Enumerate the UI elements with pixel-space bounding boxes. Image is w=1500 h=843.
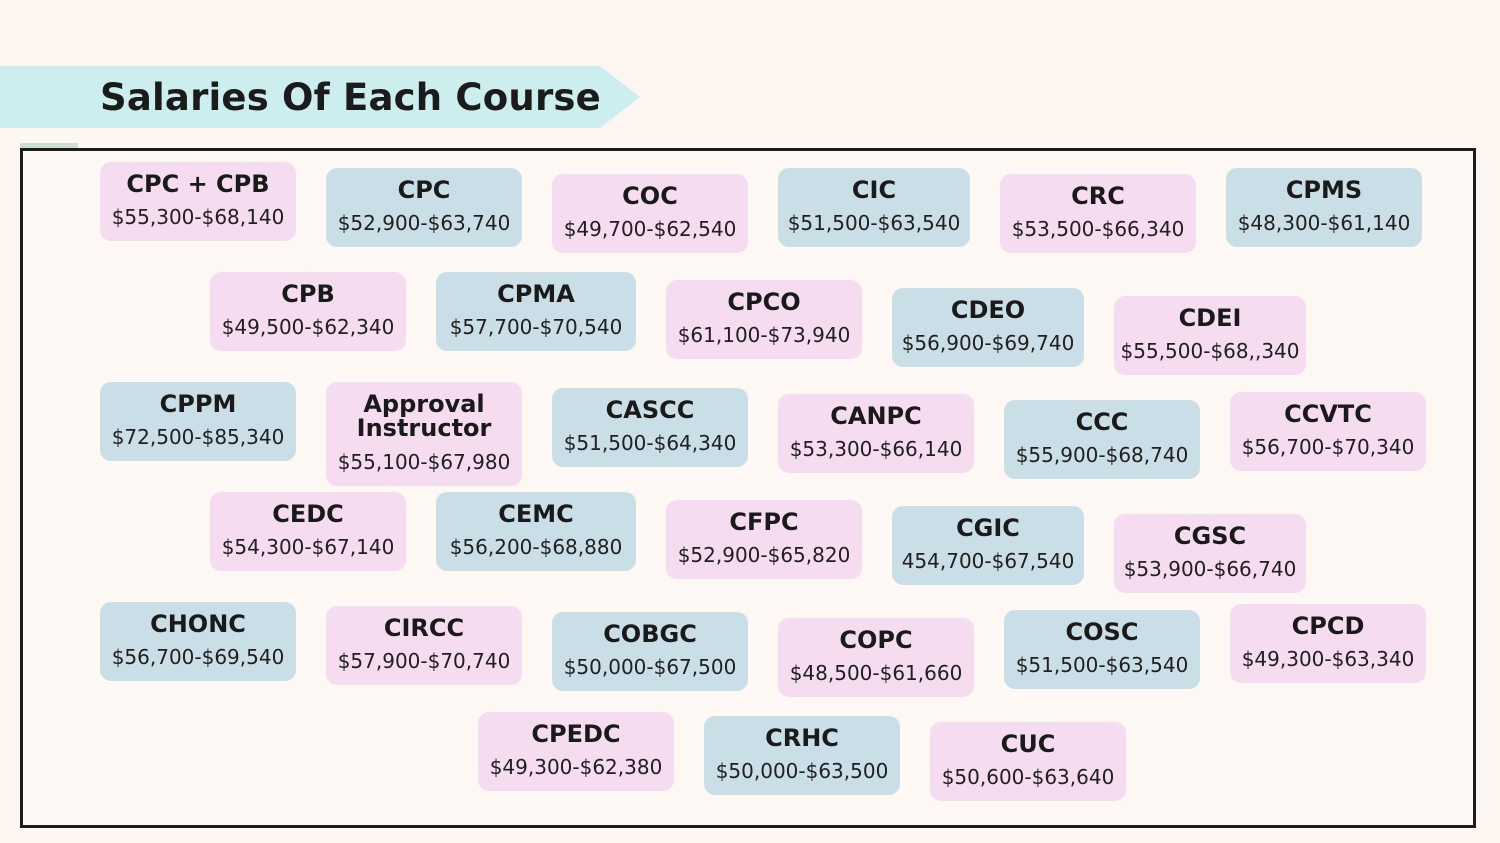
course-card-salary-range: $49,500-$62,340 (222, 315, 395, 339)
course-card[interactable]: CPMA$57,700-$70,540 (436, 272, 636, 351)
course-card[interactable]: CPMS$48,300-$61,140 (1226, 168, 1422, 247)
course-row: CPB$49,500-$62,340CPMA$57,700-$70,540CPC… (100, 272, 1466, 382)
course-card-salary-range: $57,700-$70,540 (450, 315, 623, 339)
course-card[interactable]: CPEDC$49,300-$62,380 (478, 712, 674, 791)
course-card-salary-range: $50,000-$63,500 (716, 759, 889, 783)
course-card[interactable]: COPC$48,500-$61,660 (778, 618, 974, 697)
infographic-stage: Salaries Of Each Course CPC + CPB$55,300… (0, 0, 1500, 843)
course-card-title: CPC + CPB (126, 172, 269, 196)
course-card-title: COBGC (603, 622, 697, 646)
course-card-title: CPMS (1286, 178, 1362, 202)
course-card[interactable]: CANPC$53,300-$66,140 (778, 394, 974, 473)
course-card[interactable]: CPCD$49,300-$63,340 (1230, 604, 1426, 683)
course-card[interactable]: CPCO$61,100-$73,940 (666, 280, 862, 359)
course-card-salary-range: $56,200-$68,880 (450, 535, 623, 559)
course-card[interactable]: CHONC$56,700-$69,540 (100, 602, 296, 681)
course-card-salary-range: $53,300-$66,140 (790, 437, 963, 461)
course-card-grid: CPC + CPB$55,300-$68,140CPC$52,900-$63,7… (78, 148, 1476, 828)
course-card-title: CDEI (1179, 306, 1242, 330)
course-card[interactable]: Approval Instructor$55,100-$67,980 (326, 382, 522, 486)
course-card[interactable]: CEMC$56,200-$68,880 (436, 492, 636, 571)
course-card-salary-range: $49,700-$62,540 (564, 217, 737, 241)
course-card-title: COSC (1066, 620, 1139, 644)
course-card-title: CANPC (830, 404, 921, 428)
course-card-salary-range: $52,900-$63,740 (338, 211, 511, 235)
course-card-salary-range: $56,900-$69,740 (902, 331, 1075, 355)
course-card[interactable]: CEDC$54,300-$67,140 (210, 492, 406, 571)
course-card-salary-range: $48,500-$61,660 (790, 661, 963, 685)
course-card[interactable]: CGSC$53,900-$66,740 (1114, 514, 1306, 593)
course-card[interactable]: CRC$53,500-$66,340 (1000, 174, 1196, 253)
page-title: Salaries Of Each Course (100, 76, 601, 119)
course-row: CPC + CPB$55,300-$68,140CPC$52,900-$63,7… (100, 162, 1466, 272)
course-card-salary-range: $56,700-$69,540 (112, 645, 285, 669)
course-card-salary-range: $61,100-$73,940 (678, 323, 851, 347)
course-row: CPPM$72,500-$85,340Approval Instructor$5… (100, 382, 1466, 492)
course-card-salary-range: $72,500-$85,340 (112, 425, 285, 449)
course-card[interactable]: CPPM$72,500-$85,340 (100, 382, 296, 461)
course-card-title: CGIC (956, 516, 1020, 540)
course-card-salary-range: 454,700-$67,540 (902, 549, 1075, 573)
course-card-salary-range: $53,500-$66,340 (1012, 217, 1185, 241)
course-card-title: CPCD (1292, 614, 1365, 638)
course-card[interactable]: CCC$55,900-$68,740 (1004, 400, 1200, 479)
course-card-title: CCVTC (1284, 402, 1372, 426)
course-card-salary-range: $50,000-$67,500 (564, 655, 737, 679)
course-card-title: CUC (1001, 732, 1056, 756)
course-card-title: COPC (839, 628, 912, 652)
course-card-title: CCC (1076, 410, 1129, 434)
course-card[interactable]: CASCC$51,500-$64,340 (552, 388, 748, 467)
course-card[interactable]: COBGC$50,000-$67,500 (552, 612, 748, 691)
course-card-salary-range: $55,500-$68,,340 (1121, 339, 1300, 363)
course-card[interactable]: CUC$50,600-$63,640 (930, 722, 1126, 801)
course-card-title: CPPM (160, 392, 237, 416)
course-card-salary-range: $51,500-$63,540 (1016, 653, 1189, 677)
course-card[interactable]: CPC + CPB$55,300-$68,140 (100, 162, 296, 241)
course-card-title: CHONC (150, 612, 246, 636)
course-card-title: CDEO (951, 298, 1025, 322)
course-card-title: COC (622, 184, 678, 208)
course-card[interactable]: CPB$49,500-$62,340 (210, 272, 406, 351)
course-card-title: CEMC (498, 502, 574, 526)
course-row: CHONC$56,700-$69,540CIRCC$57,900-$70,740… (100, 602, 1466, 712)
course-card-title: CASCC (606, 398, 695, 422)
course-card-salary-range: $55,100-$67,980 (338, 450, 511, 474)
course-card-title: Approval Instructor (357, 392, 492, 441)
course-card-salary-range: $56,700-$70,340 (1242, 435, 1415, 459)
course-card-title: CEDC (272, 502, 344, 526)
course-card[interactable]: CFPC$52,900-$65,820 (666, 500, 862, 579)
course-card[interactable]: CRHC$50,000-$63,500 (704, 716, 900, 795)
course-card-title: CRHC (765, 726, 839, 750)
course-card-salary-range: $49,300-$62,380 (490, 755, 663, 779)
course-card-salary-range: $51,500-$63,540 (788, 211, 961, 235)
course-card-title: CPC (398, 178, 451, 202)
course-card-salary-range: $57,900-$70,740 (338, 649, 511, 673)
course-card-title: CPEDC (531, 722, 620, 746)
course-card-title: CPMA (497, 282, 575, 306)
course-card-salary-range: $48,300-$61,140 (1238, 211, 1411, 235)
course-card-title: CIC (852, 178, 896, 202)
course-card[interactable]: COC$49,700-$62,540 (552, 174, 748, 253)
course-card-title: CGSC (1174, 524, 1246, 548)
course-card[interactable]: CIC$51,500-$63,540 (778, 168, 970, 247)
course-card-salary-range: $52,900-$65,820 (678, 543, 851, 567)
course-card[interactable]: CCVTC$56,700-$70,340 (1230, 392, 1426, 471)
course-card[interactable]: COSC$51,500-$63,540 (1004, 610, 1200, 689)
course-card[interactable]: CPC$52,900-$63,740 (326, 168, 522, 247)
course-card-salary-range: $49,300-$63,340 (1242, 647, 1415, 671)
course-card-salary-range: $55,900-$68,740 (1016, 443, 1189, 467)
course-card-title: CPCO (727, 290, 800, 314)
title-banner: Salaries Of Each Course (0, 66, 600, 128)
course-row: CPEDC$49,300-$62,380CRHC$50,000-$63,500C… (100, 712, 1466, 822)
course-card[interactable]: CDEO$56,900-$69,740 (892, 288, 1084, 367)
course-card-title: CIRCC (384, 616, 464, 640)
course-card[interactable]: CDEI$55,500-$68,,340 (1114, 296, 1306, 375)
course-card-salary-range: $53,900-$66,740 (1124, 557, 1297, 581)
course-card-salary-range: $55,300-$68,140 (112, 205, 285, 229)
course-card-salary-range: $54,300-$67,140 (222, 535, 395, 559)
course-card-salary-range: $51,500-$64,340 (564, 431, 737, 455)
course-card[interactable]: CIRCC$57,900-$70,740 (326, 606, 522, 685)
banner-arrow-tip (600, 66, 640, 128)
course-card-title: CFPC (729, 510, 798, 534)
course-card-salary-range: $50,600-$63,640 (942, 765, 1115, 789)
course-card-title: CRC (1071, 184, 1125, 208)
course-card[interactable]: CGIC454,700-$67,540 (892, 506, 1084, 585)
course-row: CEDC$54,300-$67,140CEMC$56,200-$68,880CF… (100, 492, 1466, 602)
course-card-title: CPB (281, 282, 335, 306)
